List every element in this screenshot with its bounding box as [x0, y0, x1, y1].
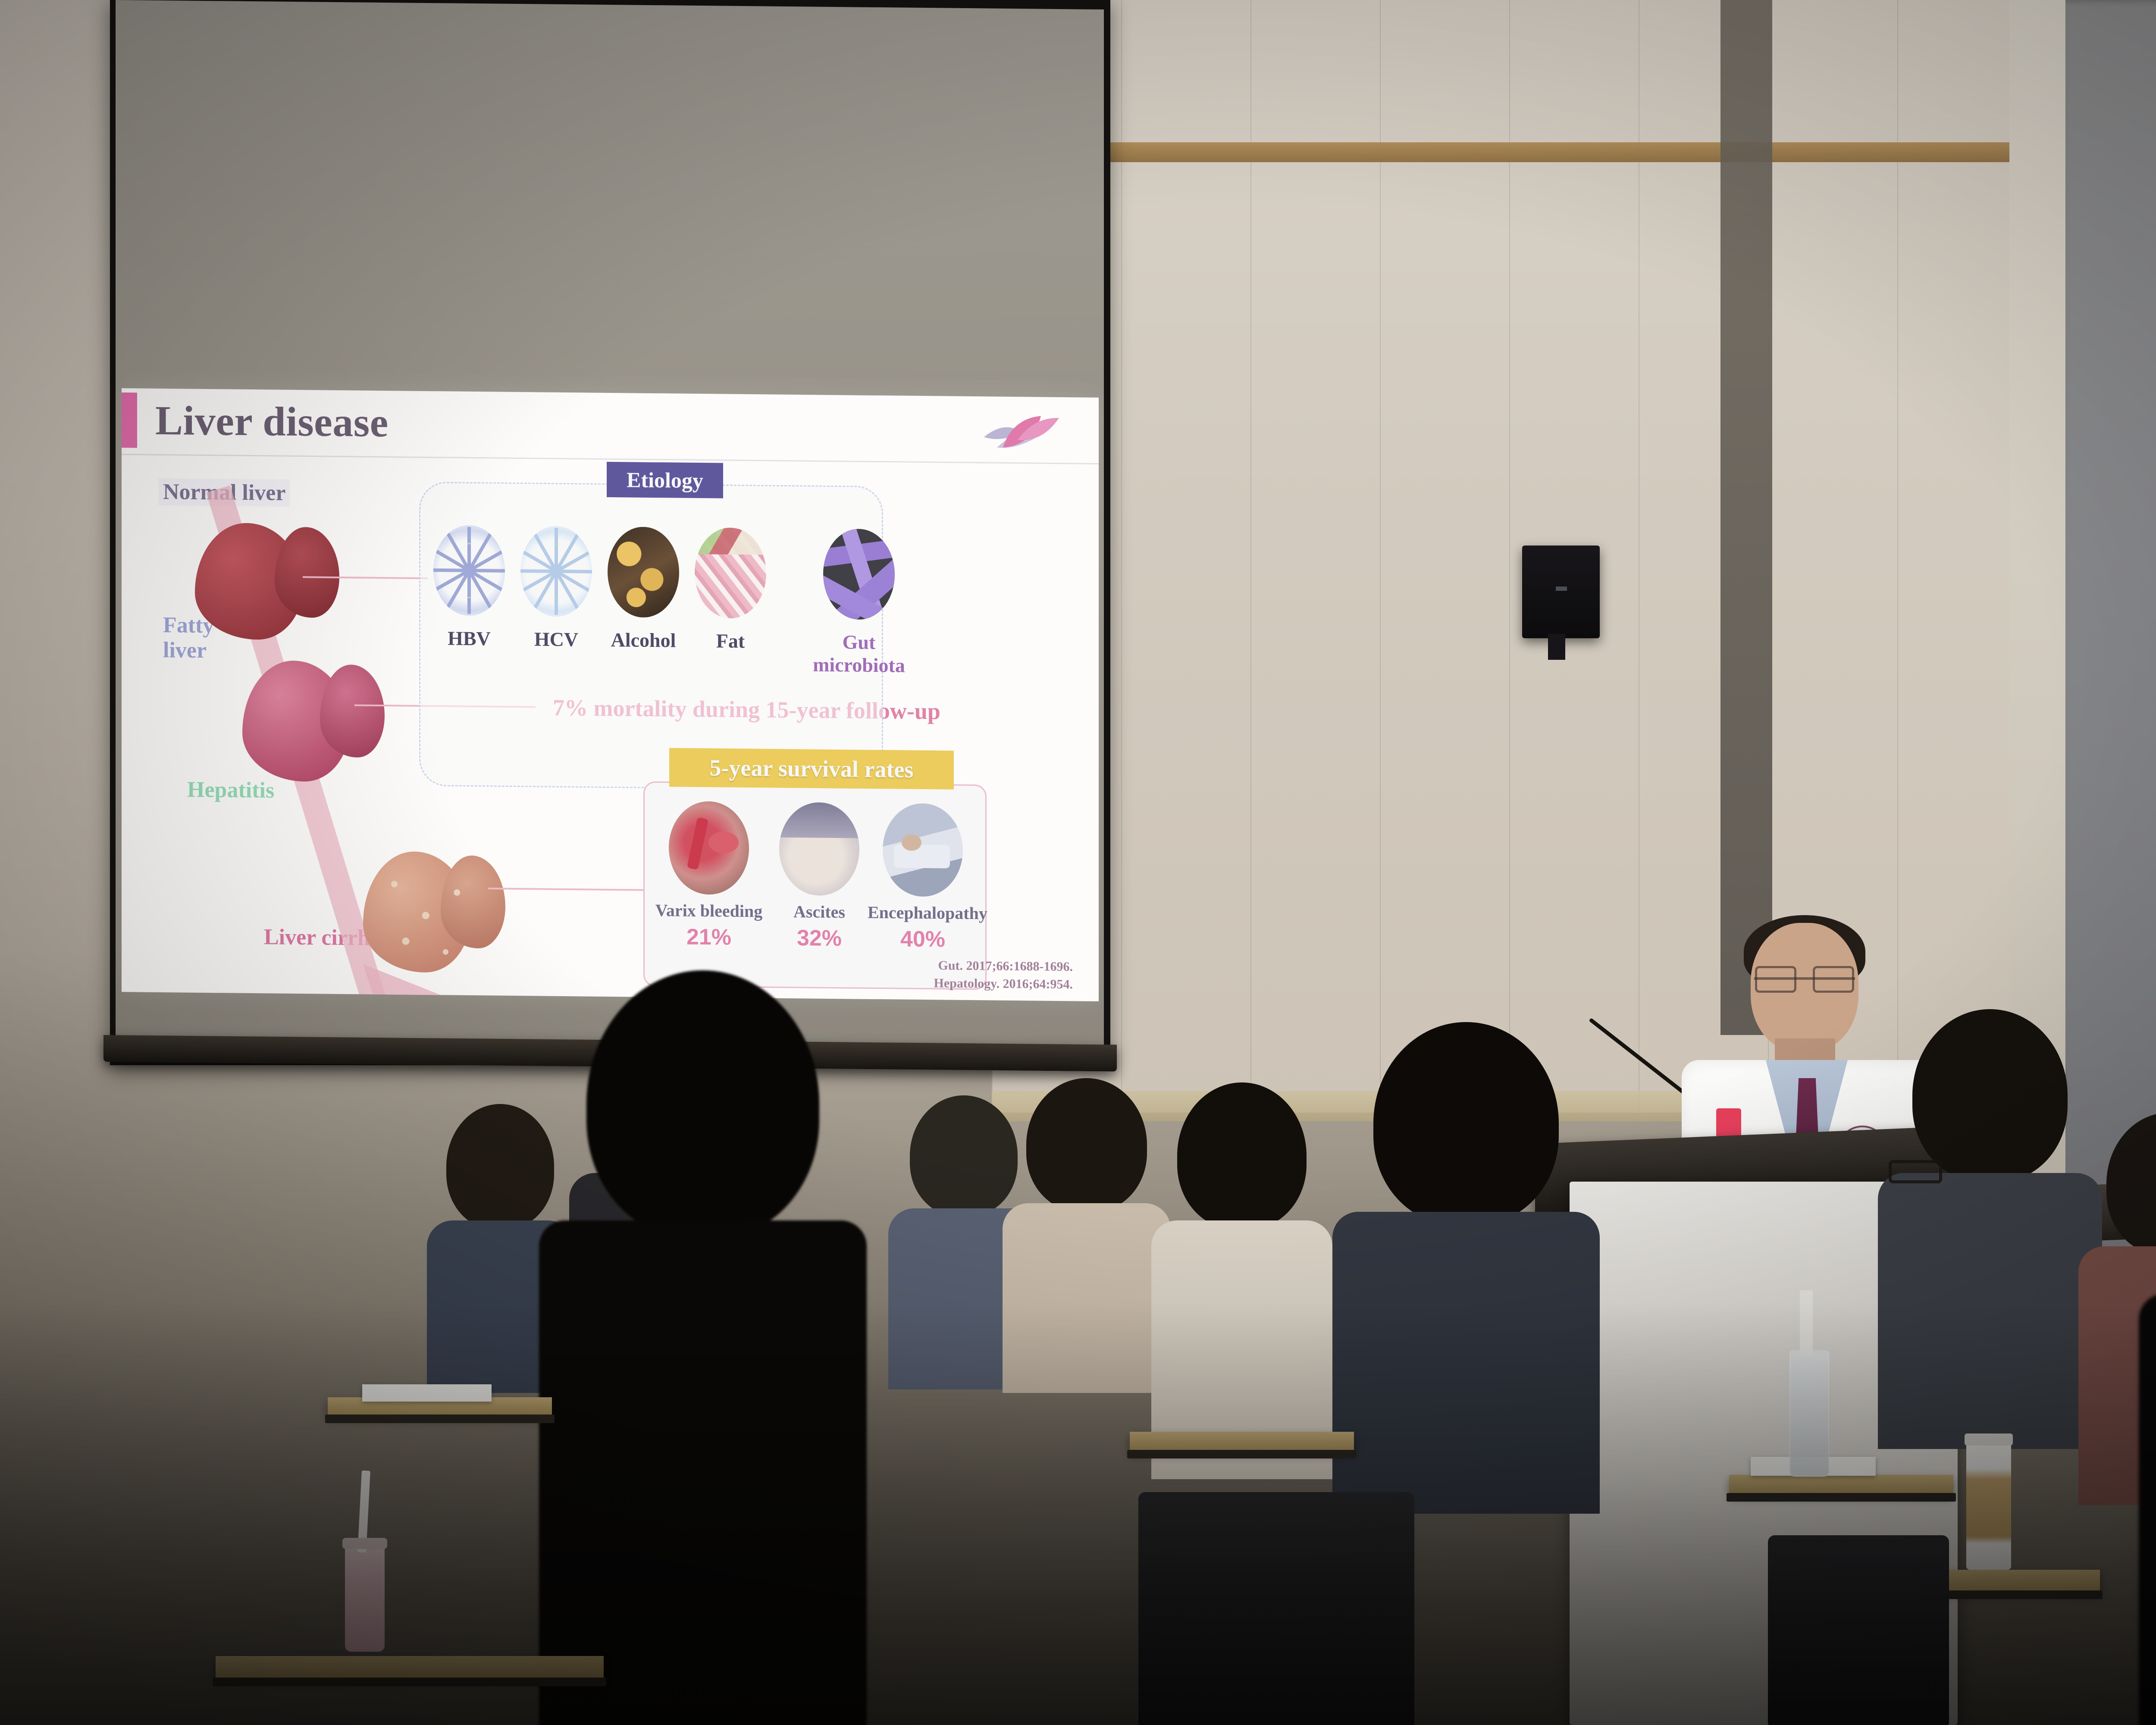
- hepatitis-liver-illustration: [242, 657, 385, 787]
- desk-center: [1130, 1432, 1354, 1452]
- etiology-item-hbv: HBV: [430, 525, 508, 650]
- audience-member-7: [1889, 1009, 2091, 1440]
- lecture-hall-photo: Liver disease Normal liver Fatty liver H…: [0, 0, 2156, 1725]
- speaker-grille-dot: [1556, 586, 1567, 591]
- audience-member-7-glasses-icon: [1889, 1160, 1942, 1183]
- presentation-slide: Liver disease Normal liver Fatty liver H…: [122, 388, 1099, 1001]
- audience-member-6: [1345, 1022, 1587, 1496]
- survival-item-ascites: Ascites 32%: [764, 802, 874, 951]
- connector-line-cirrhosis: [488, 888, 652, 891]
- projection-screen: Liver disease Normal liver Fatty liver H…: [116, 0, 1104, 1053]
- survival-value-encephalopathy: 40%: [868, 926, 978, 953]
- etiology-item-alcohol: Alcohol: [605, 527, 682, 652]
- virus-icon: [520, 526, 592, 617]
- etiology-label-gut-microbiota: Gut microbiota: [794, 630, 924, 677]
- etiology-label-hcv: HCV: [517, 627, 595, 651]
- iced-drink-cup: [345, 1544, 385, 1652]
- etiology-label-fat: Fat: [692, 629, 769, 653]
- desk-right-back: [1729, 1475, 1953, 1495]
- survival-tag: 5-year survival rates: [669, 748, 954, 789]
- audience-member-9: [552, 970, 854, 1725]
- fatty-meat-photo: [695, 527, 766, 619]
- wall-mounted-loudspeaker: [1522, 546, 1600, 638]
- cirrhotic-liver-illustration: [363, 848, 505, 979]
- eyeglasses-icon: [1754, 977, 1855, 980]
- abdomen-ascites-photo: [779, 802, 859, 896]
- citation-line-2: Hepatology. 2016;64:954.: [934, 975, 1073, 994]
- patient-in-bed-photo: [883, 803, 963, 897]
- etiology-tag: Etiology: [607, 462, 723, 499]
- survival-label-ascites: Ascites: [764, 901, 874, 922]
- slide-accent-bar: [122, 392, 137, 448]
- tumbler-lid: [1965, 1433, 2013, 1446]
- slide-title: Liver disease: [155, 396, 389, 446]
- bottle-cap: [1800, 1290, 1813, 1355]
- survival-value-varix-bleeding: 21%: [654, 924, 764, 950]
- etiology-item-fat: Fat: [692, 527, 769, 653]
- audience-member-4: [1009, 1078, 1164, 1380]
- audience-member-5: [1156, 1082, 1328, 1471]
- speaker-bracket: [1548, 634, 1565, 660]
- survival-label-encephalopathy: Encephalopathy: [868, 902, 978, 923]
- water-bottle: [1789, 1350, 1829, 1477]
- coffee-tumbler: [1966, 1440, 2011, 1570]
- survival-value-ascites: 32%: [764, 925, 874, 951]
- cup-lid: [342, 1538, 387, 1549]
- normal-liver-illustration: [195, 518, 342, 645]
- ceiling-beam: [1720, 0, 1772, 1035]
- notebook: [362, 1384, 492, 1402]
- bacteria-photo: [823, 529, 895, 620]
- etiology-item-hcv: HCV: [517, 526, 595, 651]
- endoscopy-bleeding-photo: [669, 801, 749, 895]
- desk-left-front: [216, 1656, 604, 1679]
- hallym-swoosh-logo: [976, 406, 1067, 458]
- etiology-item-gut-microbiota: Gut microbiota: [794, 528, 924, 677]
- survival-label-varix-bleeding: Varix bleeding: [654, 900, 764, 921]
- slide-citations: Gut. 2017;66:1688-1696. Hepatology. 2016…: [934, 957, 1073, 993]
- citation-line-1: Gut. 2017;66:1688-1696.: [934, 957, 1073, 976]
- chair-back-left: [1138, 1492, 1414, 1725]
- etiology-label-alcohol: Alcohol: [605, 628, 682, 652]
- virus-icon: [433, 525, 505, 616]
- chair-back-right: [1768, 1535, 1949, 1725]
- etiology-label-hbv: HBV: [430, 627, 508, 650]
- survival-item-varix-bleeding: Varix bleeding 21%: [654, 801, 764, 950]
- survival-item-encephalopathy: Encephalopathy 40%: [868, 803, 978, 953]
- alcohol-photo: [608, 527, 679, 618]
